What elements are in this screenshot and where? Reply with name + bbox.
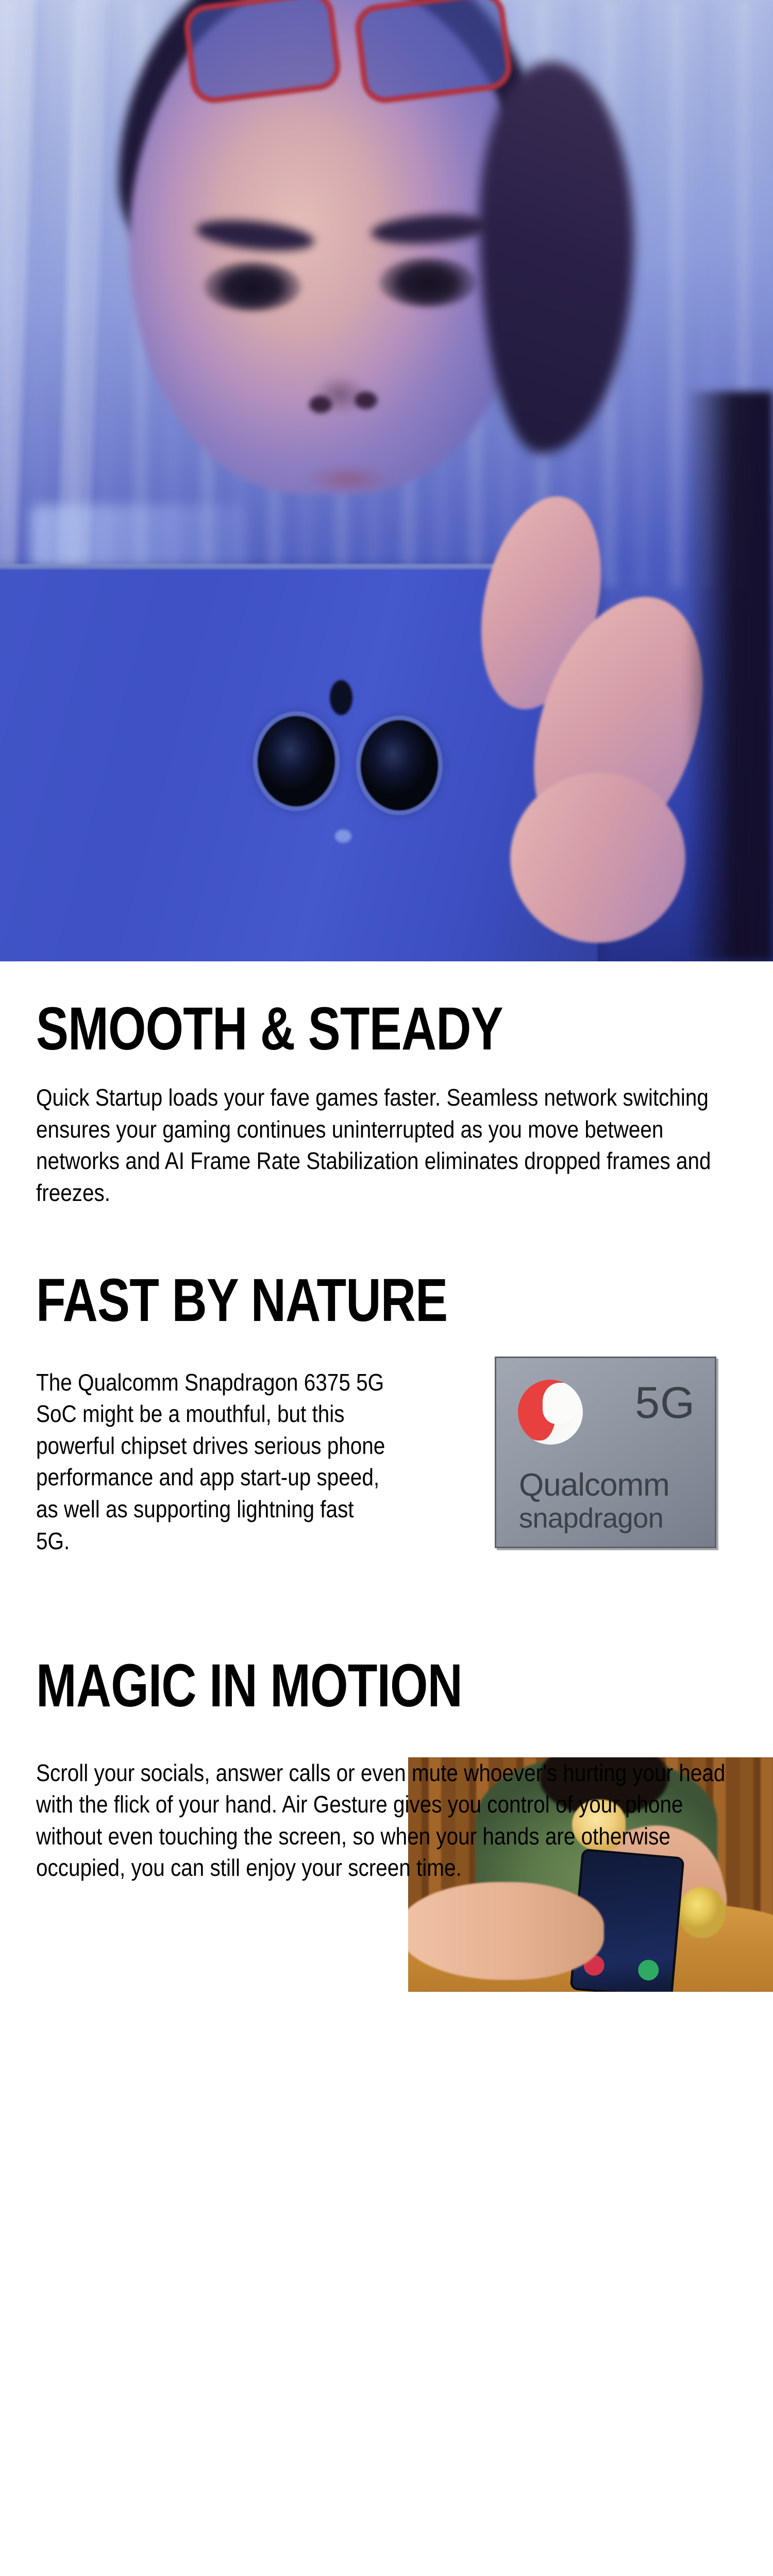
magic-in-motion-body-wrap: Scroll your socials, answer calls or eve… (36, 1757, 737, 2025)
hero-eye-right (379, 258, 477, 307)
chip-brand-label: Qualcomm (519, 1469, 669, 1501)
paragraph-smooth-and-steady: Quick Startup loads your fave games fast… (36, 1082, 737, 1209)
heading-smooth-and-steady: SMOOTH & STEADY (36, 998, 597, 1059)
heading-fast-by-nature: FAST BY NATURE (36, 1270, 597, 1331)
phone-flash-icon (330, 680, 352, 715)
paragraph-fast-by-nature: The Qualcomm Snapdragon 6375 5G SoC migh… (36, 1367, 388, 1557)
hero-nostril-left (309, 396, 332, 413)
chip-product-label: snapdragon (519, 1504, 663, 1532)
phone-camera-lens-1 (258, 716, 335, 806)
chip-5g-label: 5G (635, 1381, 695, 1425)
gesture-arm-left (408, 1882, 604, 1980)
hero-lips (289, 464, 407, 495)
snapdragon-logo-icon (518, 1380, 583, 1445)
heading-magic-in-motion: MAGIC IN MOTION (36, 1655, 597, 1716)
call-accept-icon (637, 1959, 660, 1981)
section-magic-in-motion: MAGIC IN MOTION Scroll your socials, ans… (0, 1655, 773, 2025)
hero-nostril-right (355, 392, 377, 409)
gesture-lemon (678, 1887, 726, 1938)
section-fast-by-nature: FAST BY NATURE 5G Qualcomm snapdragon Th… (0, 1270, 773, 1588)
sunglasses-lens-right (352, 0, 514, 106)
fast-by-nature-body-wrap: 5G Qualcomm snapdragon The Qualcomm Snap… (36, 1367, 737, 1588)
hero-eye-left (204, 262, 301, 311)
paragraph-magic-in-motion: Scroll your socials, answer calls or eve… (36, 1757, 737, 1885)
phone-camera-lens-2 (361, 720, 438, 810)
snapdragon-chip-image: 5G Qualcomm snapdragon (495, 1357, 716, 1548)
hero-light-streak (31, 505, 247, 572)
section-smooth-and-steady: SMOOTH & STEADY Quick Startup loads your… (0, 998, 773, 1209)
hero-image (0, 0, 773, 961)
hero-dark-edge (685, 392, 773, 961)
sunglasses-lens-left (181, 0, 343, 106)
article-content: SMOOTH & STEADY Quick Startup loads your… (0, 961, 773, 2025)
phone-sensor-dot (335, 829, 351, 843)
sunglasses-icon (183, 0, 513, 108)
